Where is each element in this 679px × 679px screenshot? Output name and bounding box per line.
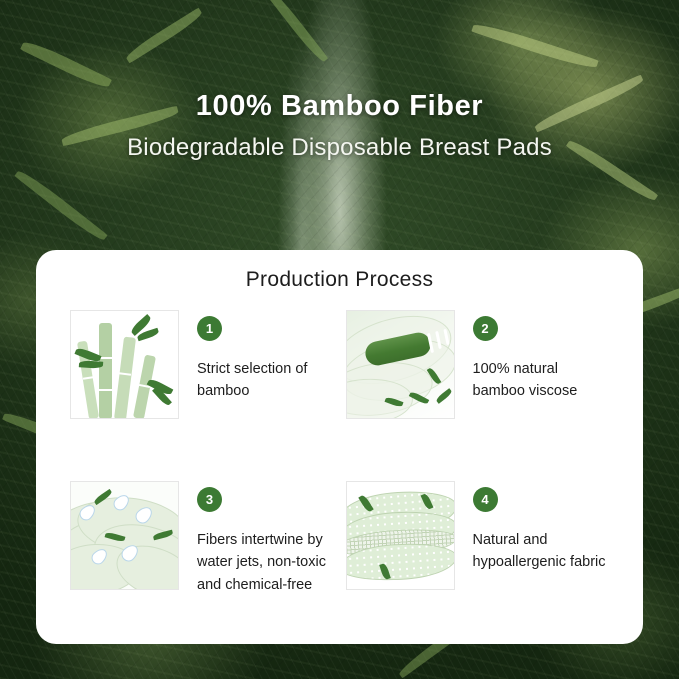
- process-steps-grid: 1 Strict selection of bamboo: [36, 310, 643, 596]
- step-number-badge: 2: [473, 316, 498, 341]
- step-description: Strict selection of bamboo: [197, 358, 338, 403]
- page-title: 100% Bamboo Fiber: [0, 88, 679, 124]
- process-step-1: 1 Strict selection of bamboo: [70, 310, 338, 419]
- header: 100% Bamboo Fiber Biodegradable Disposab…: [0, 88, 679, 163]
- process-step-4: 4 Natural and hypoallergenic fabric: [346, 481, 614, 596]
- step-body: 2 100% natural bamboo viscose: [455, 310, 614, 403]
- step-body: 3 Fibers intertwine by water jets, non-t…: [179, 481, 338, 596]
- step-number-badge: 1: [197, 316, 222, 341]
- process-step-2: 2 100% natural bamboo viscose: [346, 310, 614, 419]
- step-body: 4 Natural and hypoallergenic fabric: [455, 481, 614, 574]
- step-description: Natural and hypoallergenic fabric: [473, 529, 614, 574]
- step-body: 1 Strict selection of bamboo: [179, 310, 338, 403]
- step-description: Fibers intertwine by water jets, non-tox…: [197, 529, 338, 596]
- page-subtitle: Biodegradable Disposable Breast Pads: [0, 133, 679, 163]
- bamboo-viscose-illustration: [346, 310, 455, 419]
- card-title: Production Process: [36, 250, 643, 292]
- production-process-card: Production Process: [36, 250, 643, 644]
- step-number-badge: 3: [197, 487, 222, 512]
- bamboo-stalks-illustration: [70, 310, 179, 419]
- step-number-badge: 4: [473, 487, 498, 512]
- step-description: 100% natural bamboo viscose: [473, 358, 614, 403]
- water-jet-fibers-illustration: [70, 481, 179, 590]
- fabric-layers-illustration: [346, 481, 455, 590]
- process-step-3: 3 Fibers intertwine by water jets, non-t…: [70, 481, 338, 596]
